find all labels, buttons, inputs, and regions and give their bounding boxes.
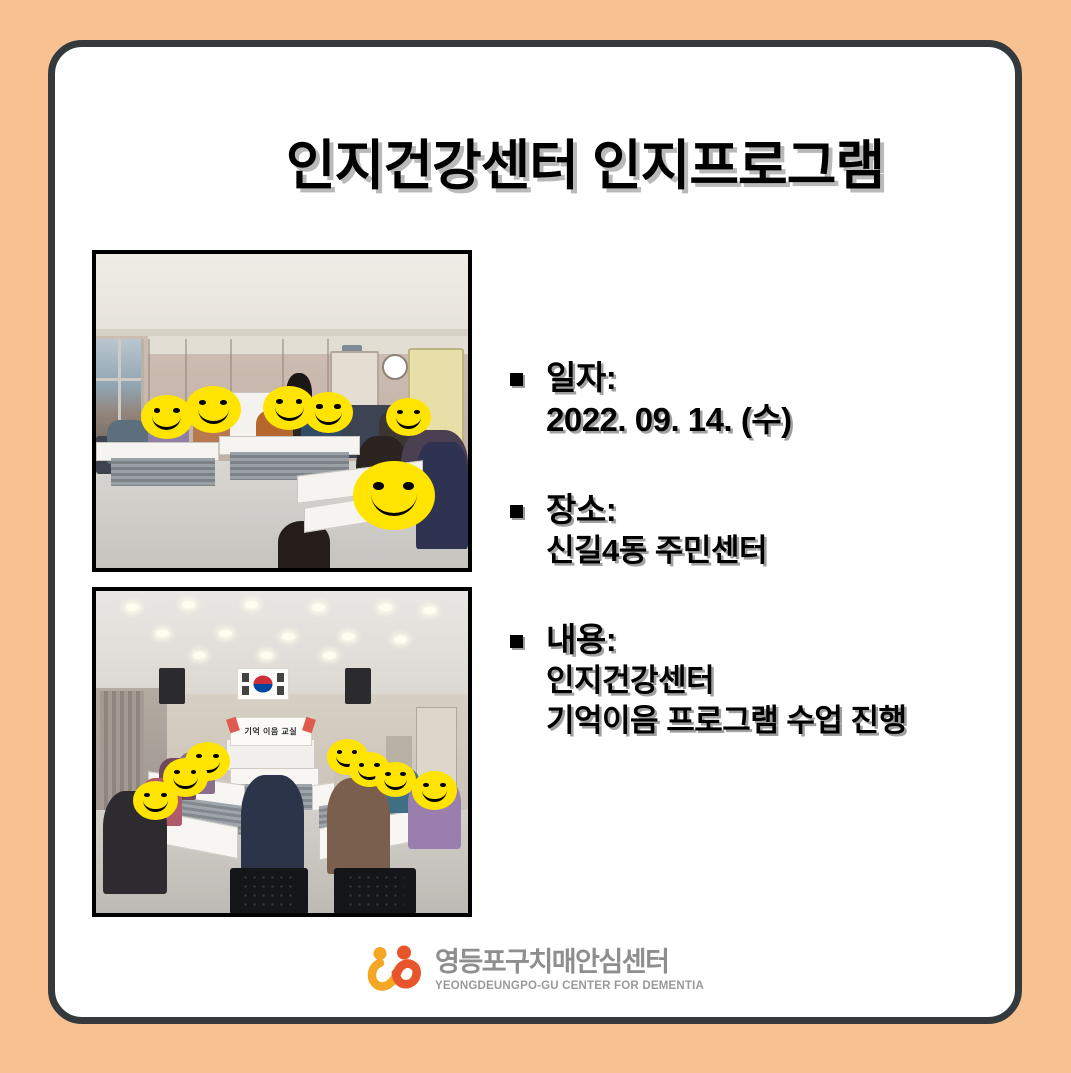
info-label-content: 내용: <box>546 619 907 661</box>
face-sticker <box>185 386 241 433</box>
photo-meeting-room <box>92 250 472 572</box>
info-item-content: 내용: 인지건강센터 기억이음 프로그램 수업 진행 <box>510 619 1010 741</box>
page-title: 인지건강센터 인지프로그램 <box>205 121 965 200</box>
banner-text: 기억 이음 교실 <box>245 726 298 737</box>
info-label-place: 장소: <box>546 489 767 531</box>
face-sticker <box>412 771 457 810</box>
info-value-date: 2022. 09. 14. (수) <box>546 399 792 442</box>
korean-flag <box>237 668 289 700</box>
center-logo-icon <box>366 945 422 995</box>
photo-hall: 기억 이음 교실 <box>92 587 472 917</box>
bullet-square-icon <box>510 505 523 518</box>
logo-english-name: YEONGDEUNGPO-GU CENTER FOR DEMENTIA <box>435 980 704 992</box>
bullet-square-icon <box>510 373 523 386</box>
info-label-date: 일자: <box>546 357 792 399</box>
face-sticker <box>353 461 435 530</box>
photo-1-scene <box>96 254 468 568</box>
info-value-place: 신길4동 주민센터 <box>546 531 767 571</box>
info-item-place: 장소: 신길4동 주민센터 <box>510 489 1010 571</box>
logo-korean-name: 영등포구치매안심센터 <box>435 948 704 976</box>
event-banner: 기억 이음 교실 <box>230 717 312 746</box>
face-sticker <box>375 762 416 797</box>
info-list: 일자: 2022. 09. 14. (수) 장소: 신길4동 주민센터 내용: … <box>510 357 1010 742</box>
info-value-content-line1: 인지건강센터 <box>546 661 907 701</box>
info-item-date: 일자: 2022. 09. 14. (수) <box>510 357 1010 441</box>
info-value-content-line2: 기억이음 프로그램 수업 진행 <box>546 701 907 741</box>
footer-logo: 영등포구치매안심센터 YEONGDEUNGPO-GU CENTER FOR DE… <box>55 945 1015 995</box>
photo-2-scene: 기억 이음 교실 <box>96 591 468 913</box>
photo-column: 기억 이음 교실 <box>92 250 472 917</box>
face-sticker <box>133 781 178 820</box>
face-sticker <box>141 395 193 439</box>
face-sticker <box>386 398 431 436</box>
face-sticker <box>304 392 352 433</box>
poster-card: 인지건강센터 인지프로그램 <box>48 40 1022 1024</box>
bullet-square-icon <box>510 635 523 648</box>
